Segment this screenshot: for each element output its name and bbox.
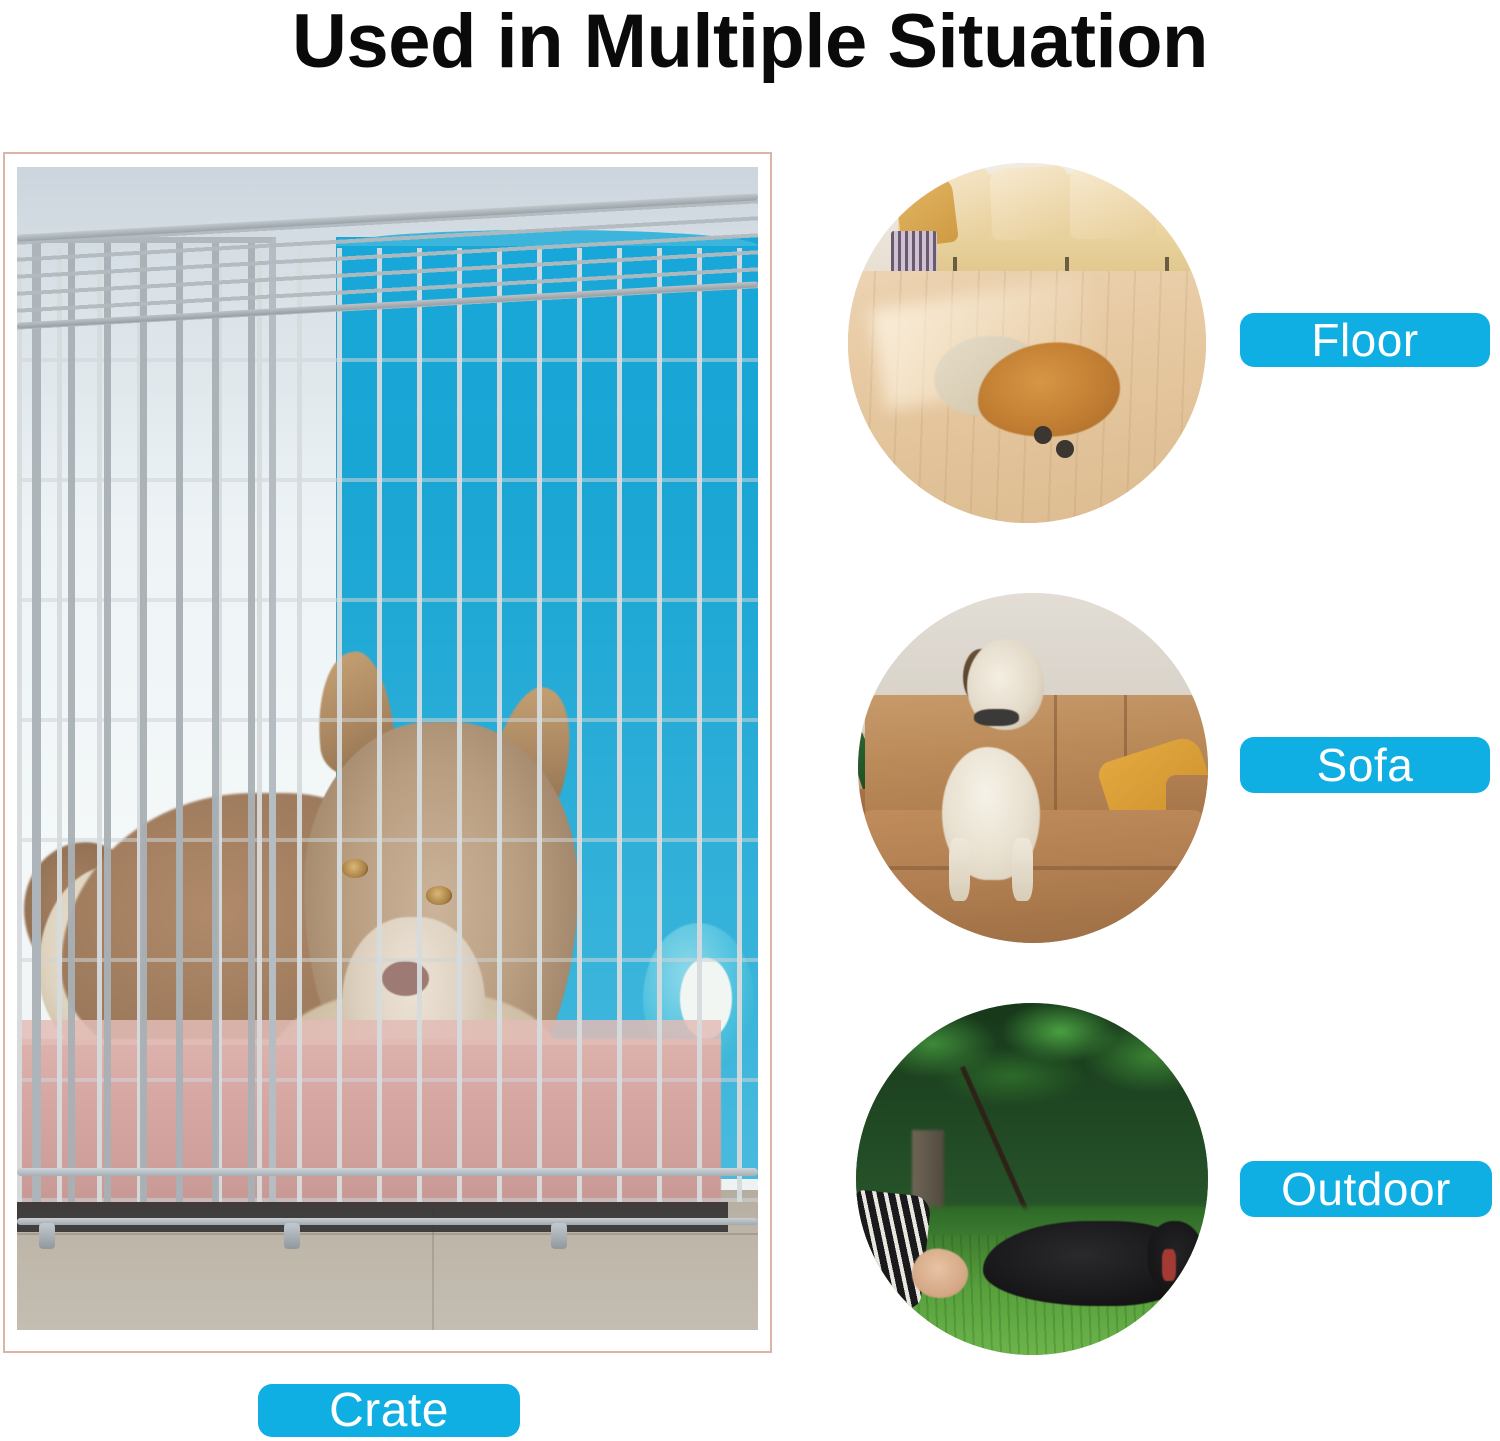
sofa-dog-leg-left <box>949 838 970 901</box>
outdoor-scene <box>856 1003 1208 1355</box>
cage-door-frame <box>32 237 277 1202</box>
crate-tray <box>17 1202 728 1232</box>
floor-sofa-cushion-2 <box>989 165 1071 241</box>
badge-crate[interactable]: Crate <box>258 1384 520 1437</box>
situation-photo-outdoor <box>856 1003 1208 1355</box>
badge-floor[interactable]: Floor <box>1240 313 1490 367</box>
cage-foot-middle <box>284 1223 300 1249</box>
sofa-seat-seam <box>858 866 1208 870</box>
floor-sofa-cushion-3 <box>1070 167 1156 239</box>
page-title: Used in Multiple Situation <box>0 0 1500 86</box>
sofa-dog-leg-right <box>1012 838 1033 901</box>
crate-photo-frame <box>3 152 772 1353</box>
sofa-scene <box>858 593 1208 943</box>
floor-dog-paw-1 <box>1034 426 1052 444</box>
sofa-dog-collar <box>974 709 1020 727</box>
outdoor-tree-canopy <box>856 1003 1208 1207</box>
sofa-backrest-seam-1 <box>1054 695 1057 821</box>
floor-scene <box>848 163 1206 523</box>
badge-sofa[interactable]: Sofa <box>1240 737 1490 793</box>
crate-photo <box>17 167 758 1330</box>
cage-foot-right <box>551 1223 567 1249</box>
crate-floor-line <box>17 1233 758 1235</box>
badge-outdoor[interactable]: Outdoor <box>1240 1161 1492 1217</box>
marketing-infographic: Used in Multiple Situation <box>0 0 1500 1441</box>
floor-dog-paw-2 <box>1056 440 1074 458</box>
outdoor-dog-head <box>1148 1221 1204 1291</box>
cage-foot-left <box>39 1223 55 1249</box>
situation-photo-sofa <box>858 593 1208 943</box>
cage-bottom-rail <box>17 1168 758 1176</box>
outdoor-dog-collar <box>1162 1249 1176 1281</box>
cage-bottom-rail-secondary <box>17 1218 758 1225</box>
situation-photo-floor <box>848 163 1206 523</box>
